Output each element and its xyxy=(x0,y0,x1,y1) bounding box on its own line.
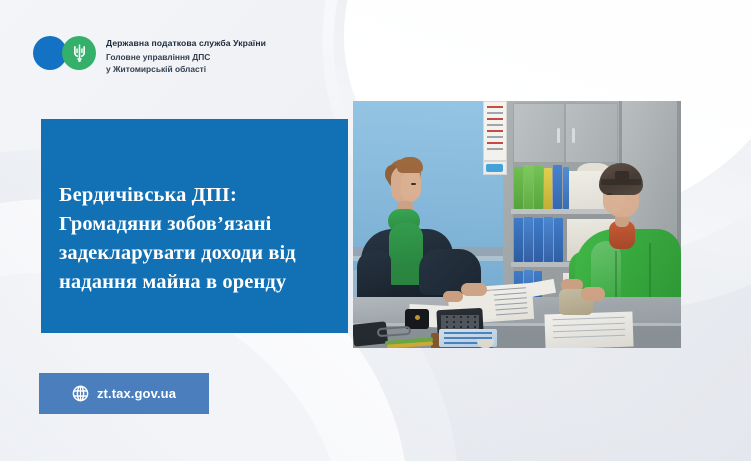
banner-canvas: Державна податкова служба України Головн… xyxy=(0,0,751,461)
organization-header: Державна податкова служба України Головн… xyxy=(33,36,266,75)
organization-line-2: Головне управління ДПС xyxy=(106,52,266,64)
website-url-label: zt.tax.gov.ua xyxy=(97,386,176,401)
organization-name-block: Державна податкова служба України Головн… xyxy=(106,36,266,75)
headline-line-1: Бердичівська ДПІ: xyxy=(59,181,296,210)
headline-panel: Бердичівська ДПІ: Громадяни зобов’язані … xyxy=(41,119,348,333)
photo-sheen-overlay xyxy=(353,101,681,348)
website-url-badge[interactable]: zt.tax.gov.ua xyxy=(39,373,209,414)
organization-line-1: Державна податкова служба України xyxy=(106,37,266,49)
article-photo xyxy=(353,101,681,348)
logo xyxy=(33,36,96,70)
headline-line-2: Громадяни зобов’язані xyxy=(59,210,296,239)
globe-icon xyxy=(72,385,89,402)
organization-line-3: у Житомирській області xyxy=(106,64,266,76)
headline-line-4: надання майна в оренду xyxy=(59,268,296,297)
headline-line-3: задекларувати доходи від xyxy=(59,239,296,268)
headline-text: Бердичівська ДПІ: Громадяни зобов’язані … xyxy=(41,181,296,297)
tryzub-emblem-icon xyxy=(62,36,96,70)
